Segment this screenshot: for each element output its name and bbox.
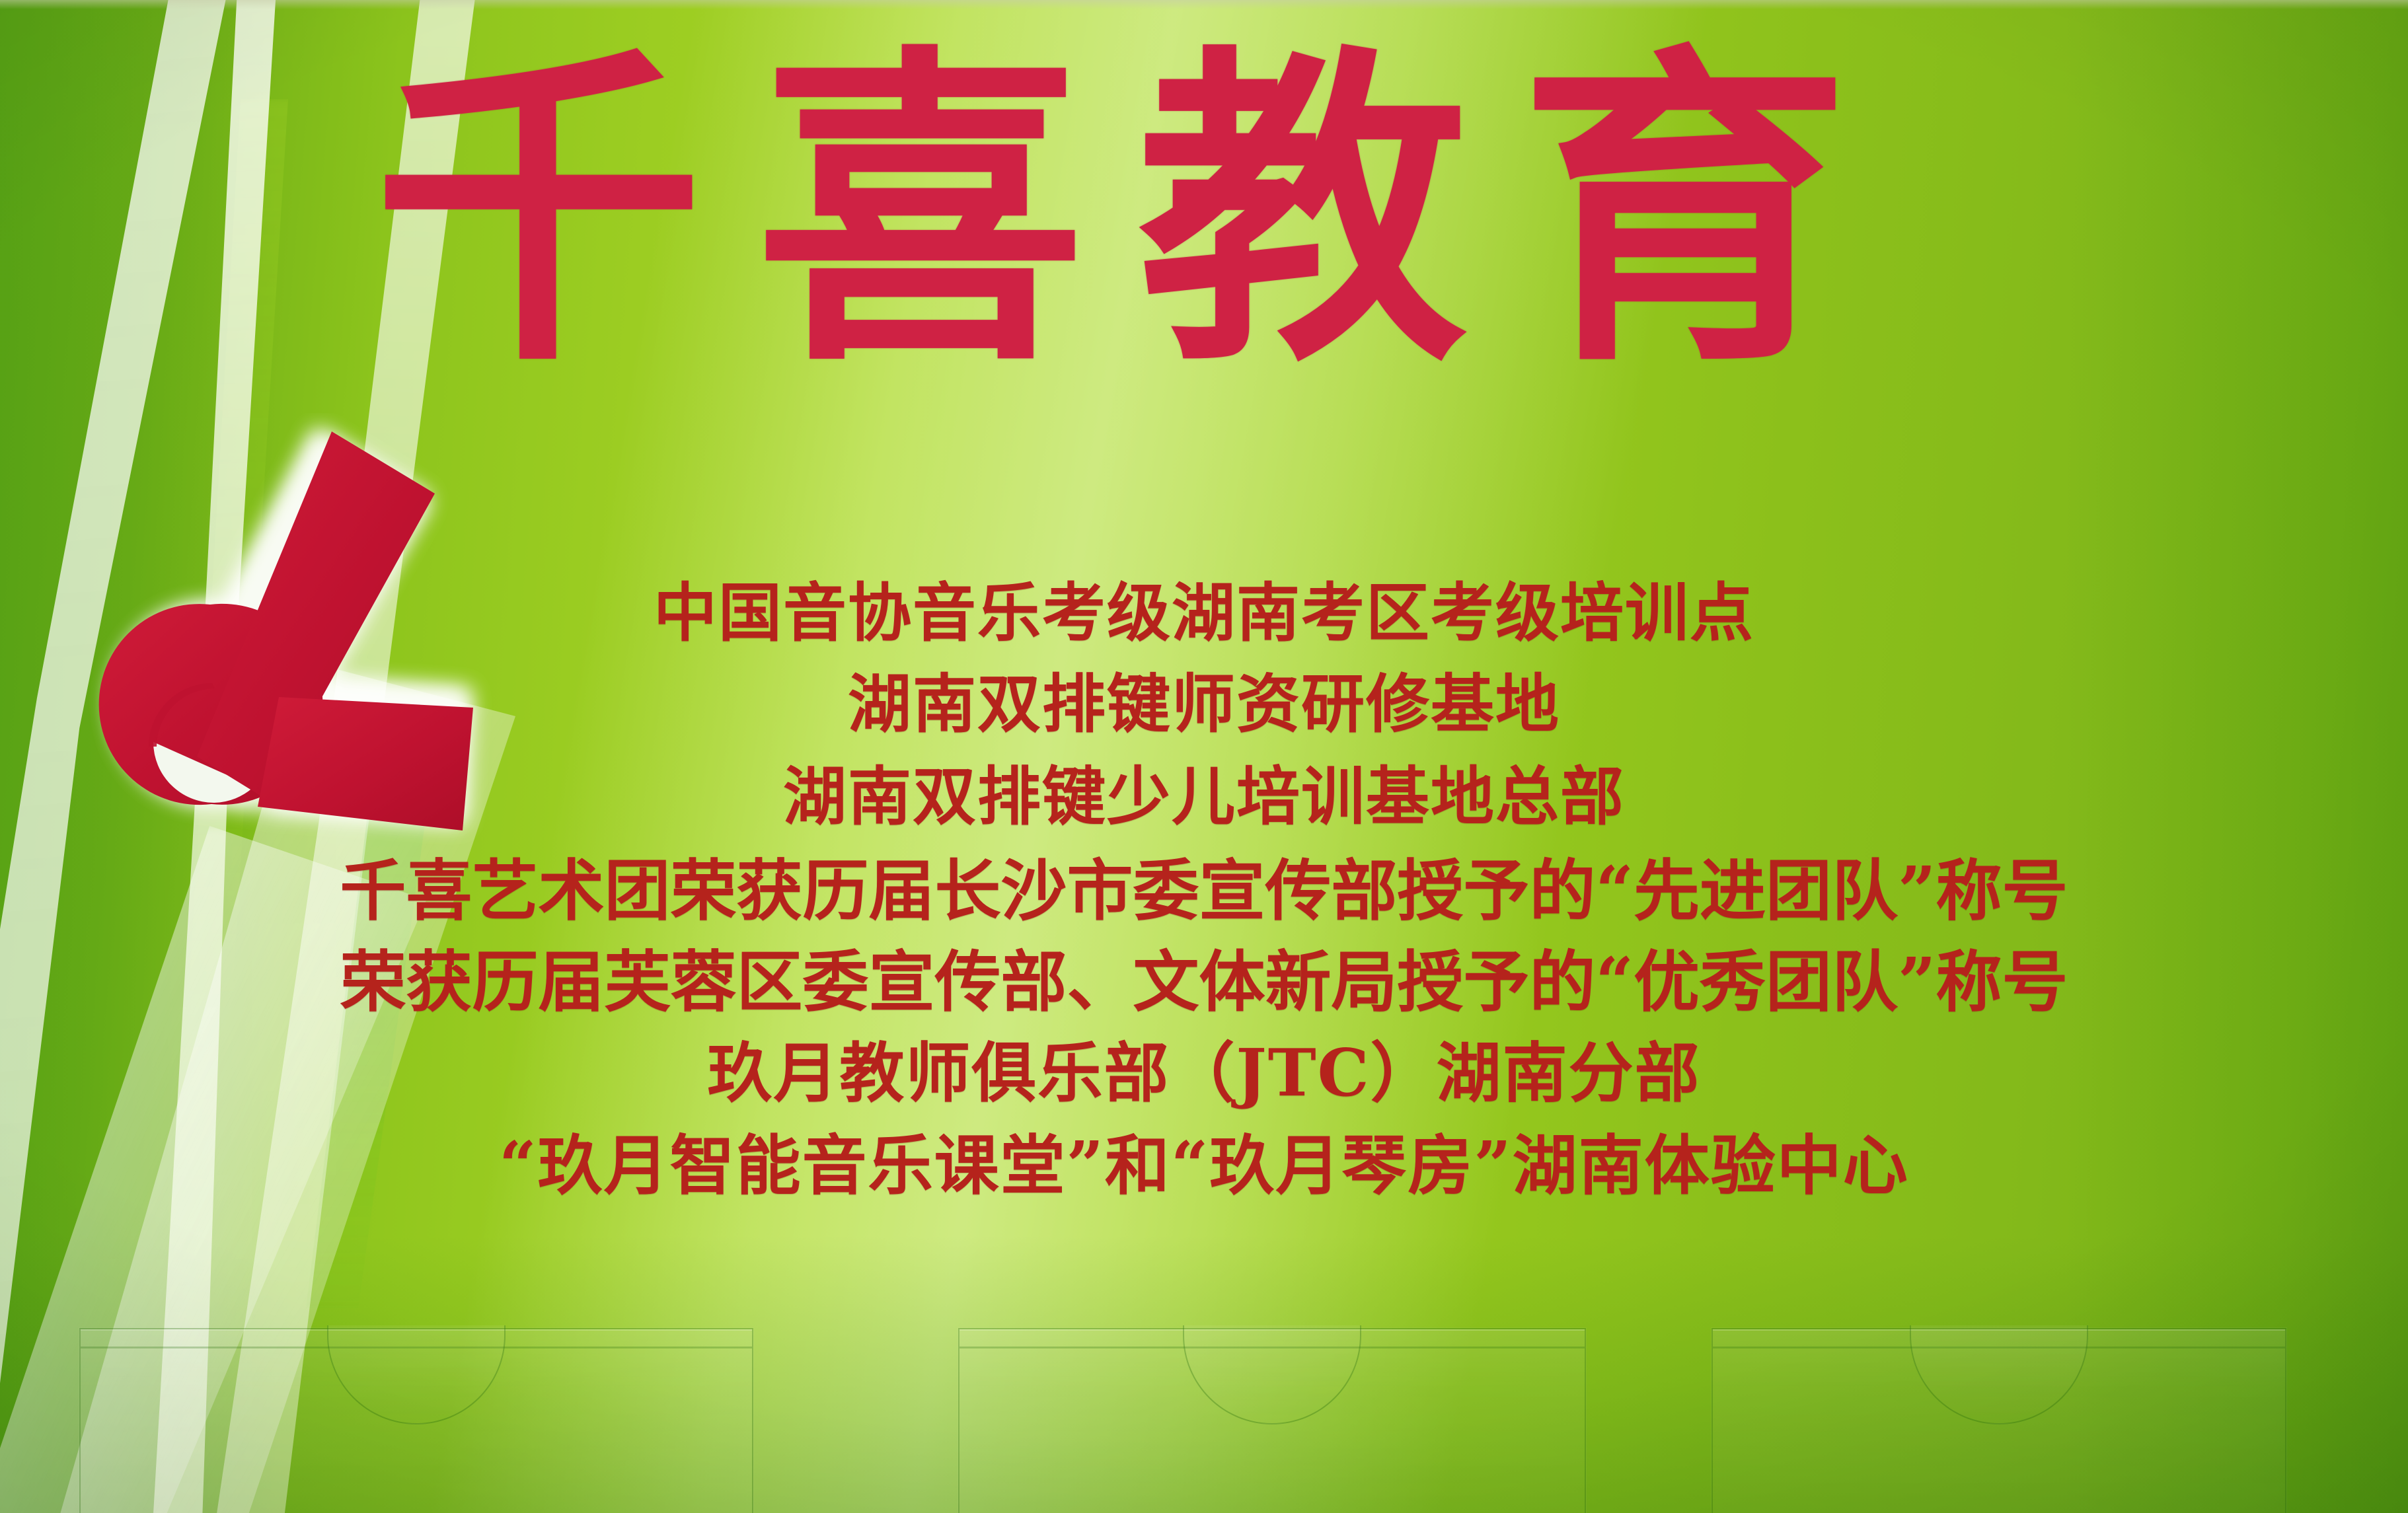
leaflet-holder[interactable]: [1712, 1328, 2286, 1513]
leaflet-holder-row: [0, 1302, 2408, 1513]
credential-line: 荣获历届芙蓉区委宣传部、文体新局授予的“优秀团队”称号: [340, 949, 2068, 1015]
credential-line: 中国音协音乐考级湖南考区考级培训点: [654, 581, 1754, 645]
leaflet-holder[interactable]: [958, 1328, 1586, 1513]
credential-line: 千喜艺术团荣获历届长沙市委宣传部授予的“先进团队”称号: [340, 858, 2068, 924]
signboard-panel: 千喜教育 中国音协音乐考级湖南考区考级培训点 湖南双排键师资研修基地 湖南双排键…: [0, 0, 2408, 1513]
credential-line: 湖南双排键少儿培训基地总部: [783, 765, 1625, 829]
credential-line: 玖月教师俱乐部（JTC）湖南分部: [707, 1041, 1700, 1106]
credential-line: “玖月智能音乐课堂”和“玖月琴房”湖南体验中心: [499, 1134, 1908, 1199]
page-title: 千喜教育: [373, 7, 2224, 416]
holder-finger-notch: [1183, 1325, 1361, 1424]
credential-line: 湖南双排键师资研修基地: [848, 673, 1560, 736]
leaflet-holder[interactable]: [79, 1328, 753, 1513]
holder-finger-notch: [1910, 1325, 2088, 1424]
holder-finger-notch: [327, 1325, 506, 1424]
credential-list: 中国音协音乐考级湖南考区考级培训点 湖南双排键师资研修基地 湖南双排键少儿培训基…: [0, 581, 2408, 1199]
